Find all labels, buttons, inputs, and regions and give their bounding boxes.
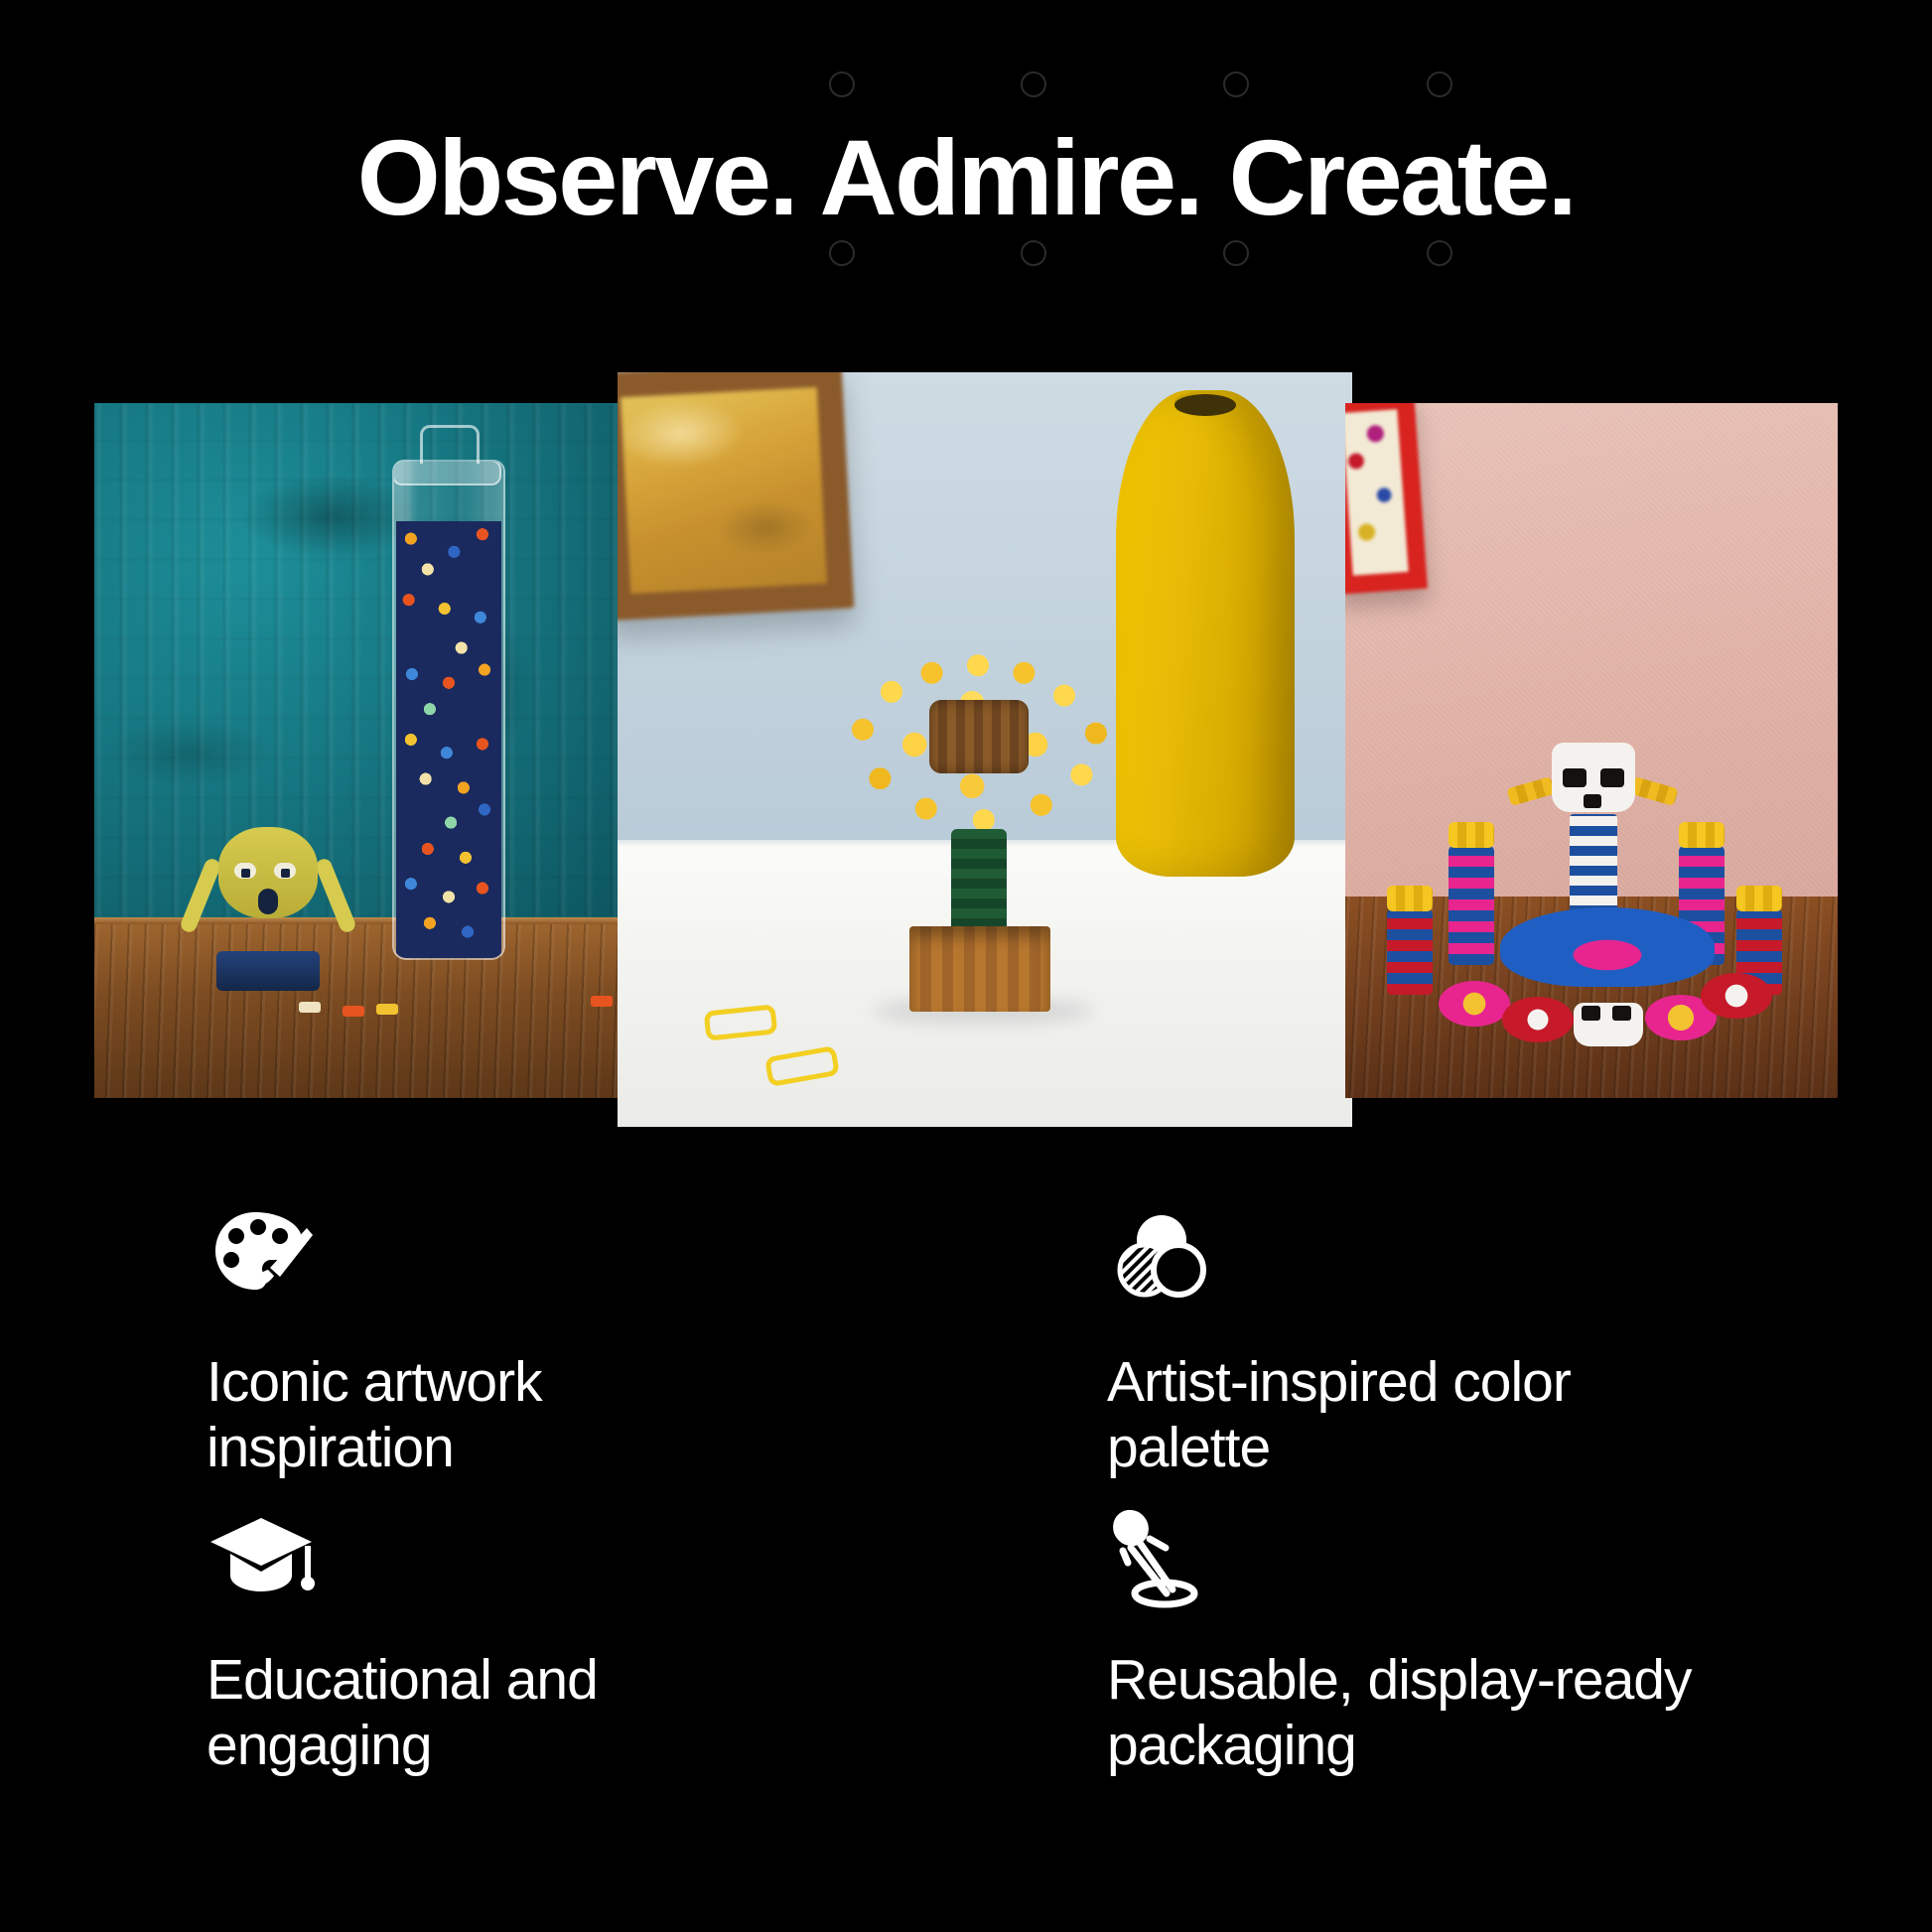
- feature-item-packaging: Reusable, display-ready packaging: [1107, 1504, 1742, 1778]
- sunflower-center: [929, 700, 1029, 773]
- color-swatches-icon: [1107, 1206, 1216, 1315]
- loose-block: [591, 996, 613, 1007]
- sunflower-stem: [951, 829, 1007, 938]
- skeleton-hand-left: [1506, 776, 1555, 806]
- palette-icon: [207, 1206, 316, 1315]
- vase-opening: [1174, 394, 1236, 416]
- tube-hook: [420, 425, 480, 464]
- small-skull-eye-left: [1582, 1006, 1600, 1021]
- candle: [1387, 909, 1433, 995]
- tube-blocks: [396, 521, 501, 958]
- loose-block: [376, 1004, 398, 1015]
- red-picture-frame: [1345, 403, 1428, 595]
- promo-banner: Observe. Admire. Create.: [0, 0, 1932, 1932]
- figure-pupil-right: [281, 869, 290, 878]
- candle-flame: [1449, 822, 1494, 848]
- feature-label: Educational and engaging: [207, 1647, 842, 1778]
- figure-mouth: [258, 889, 278, 914]
- flower: [1439, 981, 1510, 1027]
- loose-block: [343, 1006, 364, 1017]
- candle-flame: [1387, 886, 1433, 911]
- candle: [1449, 846, 1494, 965]
- skull-eye-left: [1563, 768, 1587, 787]
- flower: [1701, 973, 1772, 1019]
- figure-body: [216, 951, 320, 991]
- block-tube: [392, 460, 505, 960]
- photo-plus-plus-day-of-the-dead-altar: [1345, 403, 1838, 1098]
- teal-wall: [94, 403, 621, 917]
- skeleton-hand-right: [1629, 776, 1678, 806]
- photo-plus-plus-scream-figure-and-tube: [94, 403, 621, 1098]
- skull-eye-right: [1600, 768, 1624, 787]
- sunflower-build: [834, 650, 1122, 988]
- framed-painting: [618, 372, 854, 621]
- skull-nose: [1584, 794, 1601, 808]
- small-skull-eye-right: [1612, 1006, 1631, 1021]
- feature-item-artist-palette: Artist-inspired color palette: [1107, 1206, 1742, 1480]
- feature-item-iconic-artwork: Iconic artwork inspiration: [207, 1206, 842, 1480]
- figure-pupil-left: [241, 869, 250, 878]
- candle-flame: [1679, 822, 1725, 848]
- display-spotlight-icon: [1107, 1504, 1216, 1613]
- scream-block-figure: [189, 827, 347, 991]
- yellow-vase: [1116, 390, 1295, 877]
- graduation-cap-icon: [207, 1504, 316, 1613]
- sunflower-pot: [909, 926, 1050, 1012]
- flower: [1502, 997, 1574, 1042]
- day-of-the-dead-build: [1403, 743, 1790, 1040]
- candle-flame: [1736, 886, 1782, 911]
- blue-flower-mound: [1500, 907, 1715, 987]
- feature-item-educational: Educational and engaging: [207, 1504, 842, 1778]
- photo-plus-plus-sunflower-build: [618, 372, 1352, 1127]
- feature-label: Artist-inspired color palette: [1107, 1349, 1742, 1480]
- loose-block: [299, 1002, 321, 1013]
- feature-label: Iconic artwork inspiration: [207, 1349, 842, 1480]
- feature-label: Reusable, display-ready packaging: [1107, 1647, 1742, 1778]
